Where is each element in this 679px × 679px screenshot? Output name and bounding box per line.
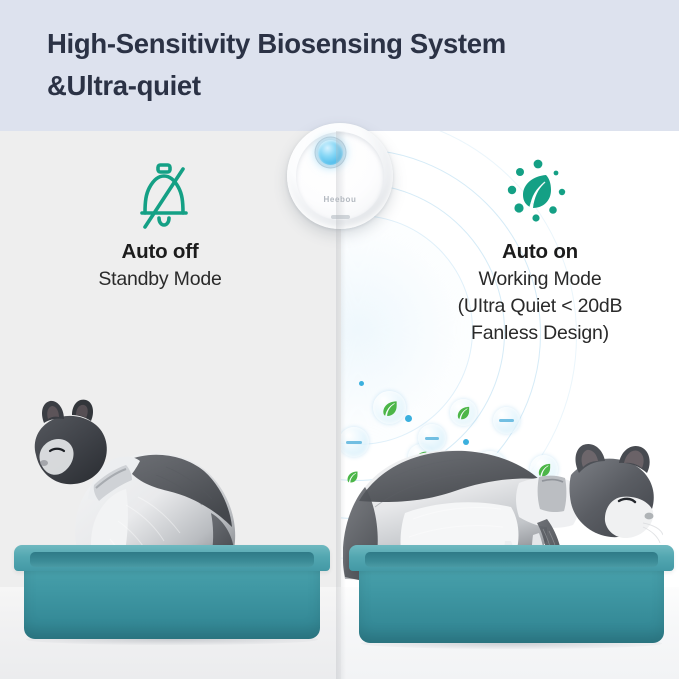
tray-cavity-left: [30, 552, 314, 567]
working-subtitle-2: (UItra Quiet < 20dB: [415, 293, 665, 320]
page-title: High-Sensitivity Biosensing System &Ultr…: [47, 23, 647, 107]
litter-tray-right: [349, 545, 674, 649]
device-vent-slot: [331, 215, 350, 219]
tray-rim-left: [14, 545, 330, 571]
caption-working: Auto on Working Mode (UItra Quiet < 20dB…: [415, 238, 665, 347]
tray-cavity-right: [365, 552, 658, 567]
tray-body-left: [24, 559, 320, 639]
tray-body-right: [359, 559, 664, 643]
tray-rim-right: [349, 545, 674, 571]
air-purifier-device: Heebou: [287, 123, 393, 229]
header-banner: High-Sensitivity Biosensing System &Ultr…: [0, 0, 679, 131]
device-brand-label: Heebou: [287, 195, 393, 204]
litter-tray-left: [14, 545, 330, 645]
product-feature-image: High-Sensitivity Biosensing System &Ultr…: [0, 0, 679, 679]
bell-off-icon: [133, 161, 195, 235]
working-title: Auto on: [415, 238, 665, 266]
power-indicator-button[interactable]: [318, 140, 343, 165]
leaf-ions-icon: [503, 157, 573, 227]
airflow-dot: [359, 381, 364, 386]
standby-title: Auto off: [15, 238, 305, 266]
device-body: Heebou: [287, 123, 393, 229]
caption-standby: Auto off Standby Mode: [15, 238, 305, 293]
working-subtitle-1: Working Mode: [415, 266, 665, 293]
working-subtitle-3: Fanless Design): [415, 320, 665, 347]
standby-subtitle: Standby Mode: [15, 266, 305, 293]
